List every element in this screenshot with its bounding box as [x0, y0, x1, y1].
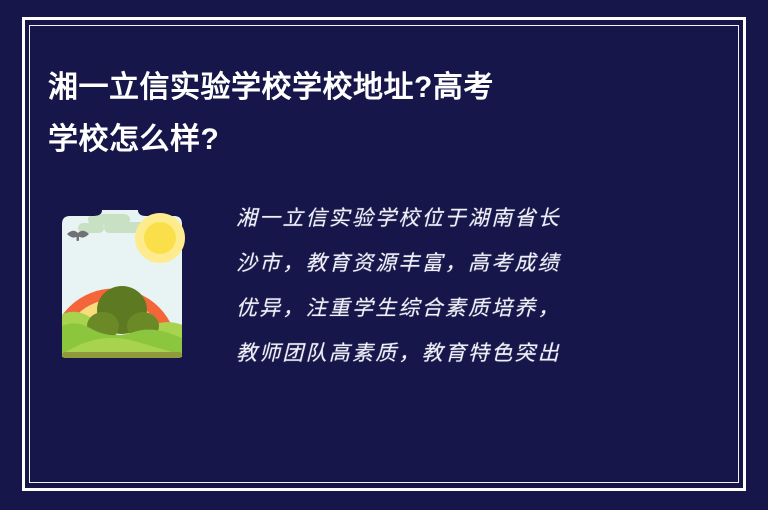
title-line-1: 湘一立信实验学校学校地址?高考: [48, 62, 708, 114]
body-line-4: 教师团队高素质，教育特色突出: [236, 331, 720, 376]
body-line-3: 优异，注重学生综合素质培养，: [236, 286, 720, 331]
page-title: 湘一立信实验学校学校地址?高考 学校怎么样?: [48, 62, 708, 166]
illustration-svg: [48, 202, 196, 370]
poster-canvas: 湘一立信实验学校学校地址?高考 学校怎么样?: [0, 0, 768, 510]
body-line-2: 沙市，教育资源丰富，高考成绩: [236, 241, 720, 286]
title-line-2: 学校怎么样?: [48, 114, 708, 166]
content-row: 湘一立信实验学校位于湖南省长 沙市，教育资源丰富，高考成绩 优异，注重学生综合素…: [48, 196, 720, 376]
rainbow-landscape-illustration: [48, 202, 196, 370]
ground-base: [62, 352, 182, 358]
sun-icon: [135, 213, 185, 263]
body-text-block: 湘一立信实验学校位于湖南省长 沙市，教育资源丰富，高考成绩 优异，注重学生综合素…: [236, 196, 720, 376]
body-line-1: 湘一立信实验学校位于湖南省长: [236, 196, 720, 241]
